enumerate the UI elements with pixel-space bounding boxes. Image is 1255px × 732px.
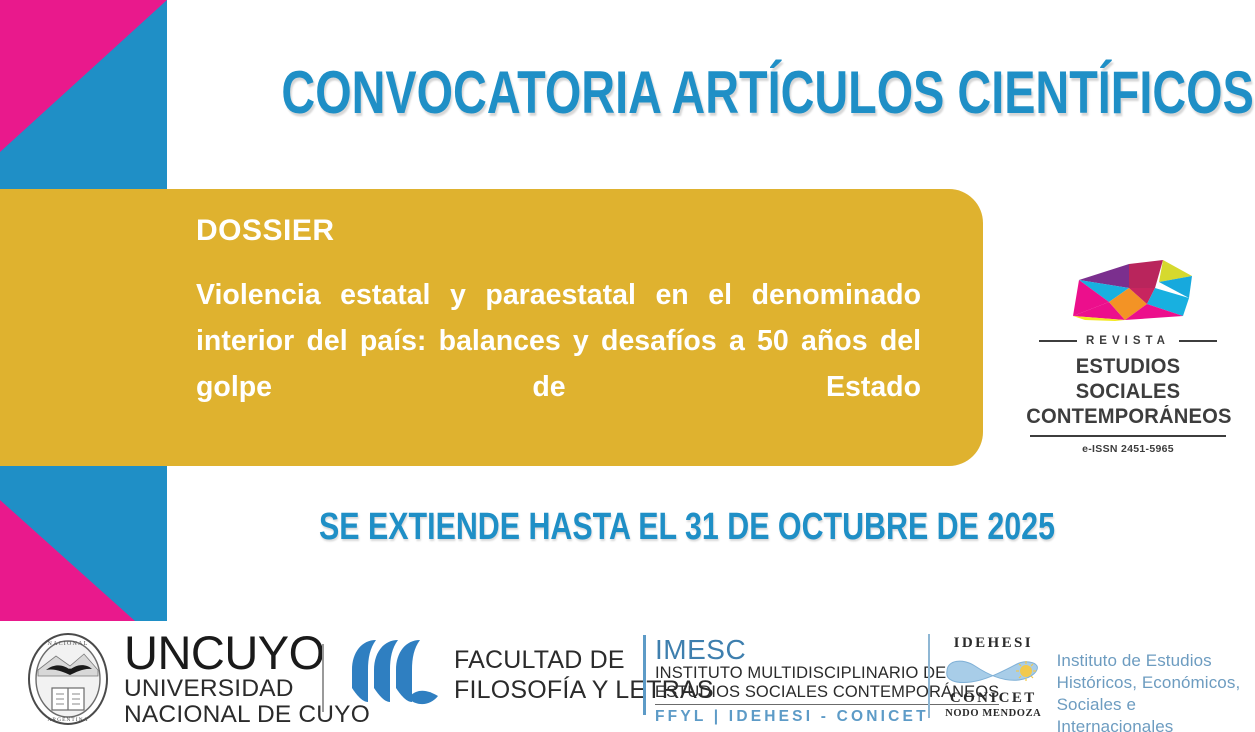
idehesi-accent-bar [928,634,930,718]
idehesi-desc-line2: Históricos, Económicos, [1057,672,1255,694]
imesc-accent-bar [643,635,646,715]
footer-logo-strip: NACIONAL ARGENTINA UNCUYO UNIVERSIDAD NA… [0,622,1255,732]
svg-text:NACIONAL: NACIONAL [48,641,89,647]
dossier-label: DOSSIER [196,214,335,248]
journal-issn: e-ISSN 2451-5965 [1022,443,1234,455]
band-bottom-shape [0,466,167,621]
idehesi-nodo: NODO MENDOZA [940,707,1047,721]
journal-kicker-row: REVISTA [1022,335,1234,347]
journal-logo: REVISTA ESTUDIOS SOCIALES CONTEMPORÁNEOS… [1022,258,1234,453]
ffl-monogram-icon [348,636,444,714]
idehesi-description: Instituto de Estudios Históricos, Económ… [1057,634,1255,732]
logo-idehesi: IDEHESI CONICET NO [928,634,1255,732]
uncuyo-seal-icon: NACIONAL ARGENTINA [26,632,110,726]
footer-divider [322,644,324,712]
uncuyo-sub-line1: UNIVERSIDAD [124,676,370,702]
decorative-band-bottom [0,466,167,621]
journal-name-line1: ESTUDIOS SOCIALES [1026,354,1230,404]
journal-divider [1030,435,1226,437]
svg-text:ARGENTINA: ARGENTINA [47,717,88,723]
poster-canvas: CONVOCATORIA ARTÍCULOS CIENTÍFICOS DOSSI… [0,0,1255,732]
band-top-shape [0,0,167,190]
journal-name-line2: CONTEMPORÁNEOS [1026,404,1230,429]
logo-uncuyo: NACIONAL ARGENTINA UNCUYO UNIVERSIDAD NA… [26,630,370,728]
idehesi-bottom-word: CONICET [940,689,1047,707]
idehesi-top-word: IDEHESI [940,634,1047,652]
idehesi-mark-stack: IDEHESI CONICET NO [940,634,1047,721]
uncuyo-word: UNCUYO [124,630,370,676]
kicker-rule-right [1179,340,1217,342]
journal-polygon-icon [1055,258,1201,322]
decorative-band-top [0,0,167,190]
uncuyo-wordmark: UNCUYO UNIVERSIDAD NACIONAL DE CUYO [124,630,370,728]
dossier-title: Violencia estatal y paraestatal en el de… [196,272,921,456]
idehesi-infinity-icon [941,654,1045,688]
kicker-rule-left [1039,340,1077,342]
uncuyo-sub-line2: NACIONAL DE CUYO [124,702,370,728]
idehesi-desc-line3: Sociales e Internacionales [1057,694,1255,732]
deadline-text: SE EXTIENDE HASTA EL 31 DE OCTUBRE DE 20… [271,508,1103,546]
idehesi-desc-line1: Instituto de Estudios [1057,650,1255,672]
page-title: CONVOCATORIA ARTÍCULOS CIENTÍFICOS [281,63,1092,123]
journal-kicker: REVISTA [1086,335,1170,347]
